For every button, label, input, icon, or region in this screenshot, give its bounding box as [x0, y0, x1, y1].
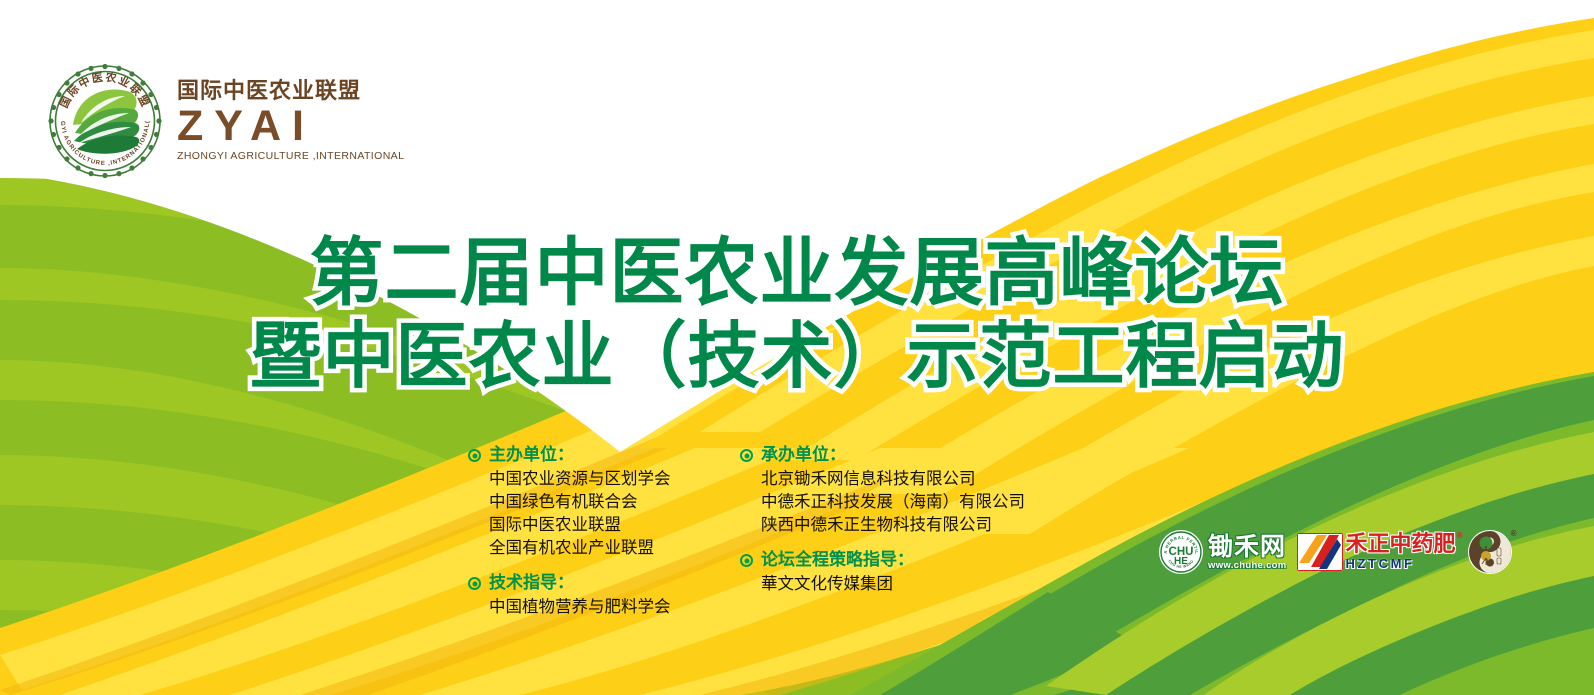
chuhe-name: 锄禾网 — [1208, 534, 1287, 559]
registered-mark-icon: ® — [1511, 529, 1517, 538]
info-group-technical-guidance: 技术指导： 中国植物营养与肥料学会 — [468, 572, 740, 618]
sponsor-chuhe-logo: CHINA HERBAL FERTILIZER CHU HE WANG CHU … — [1158, 529, 1287, 575]
info-group-strategic-guidance: 论坛全程策略指导： 華文文化传媒集团 — [740, 549, 1040, 595]
sponsor-logo-row: CHINA HERBAL FERTILIZER CHU HE WANG CHU … — [1158, 528, 1514, 576]
logo-english-name: ZHONGYI AGRICULTURE ,INTERNATIONAL — [177, 151, 404, 162]
info-group-host: 主办单位： 中国农业资源与区划学会 中国绿色有机联合会 国际中医农业联盟 全国有… — [468, 444, 740, 559]
info-heading-row: 承办单位： — [740, 444, 1040, 467]
bullet-icon — [468, 577, 481, 590]
sponsor-hztcmf-logo: 禾正中药肥 HZTCMF ® — [1297, 533, 1456, 571]
info-heading-label: 主办单位： — [489, 444, 574, 467]
conference-banner: 国际中医农业联盟 ZHONGYI AGRICULTURE ,INTERNATIO… — [0, 0, 1594, 695]
zyai-logo-text: 国际中医农业联盟 ZYAI ZHONGYI AGRICULTURE ,INTER… — [177, 81, 404, 162]
list-item: 北京锄禾网信息科技有限公司 — [761, 467, 1040, 490]
chuhe-seal-svg: CHINA HERBAL FERTILIZER CHU HE WANG CHU … — [1158, 529, 1204, 575]
info-heading-label: 承办单位： — [761, 444, 846, 467]
list-item: 中国农业资源与区划学会 — [489, 467, 740, 490]
hztcmf-mark-svg — [1297, 533, 1343, 571]
hztcmf-mark-icon — [1297, 533, 1343, 571]
hztcmf-name-en: HZTCMF — [1346, 557, 1456, 570]
info-group-co-organizer: 承办单位： 北京锄禾网信息科技有限公司 中德禾正科技发展（海南）有限公司 陕西中… — [740, 444, 1040, 536]
sponsor-tree-emblem-logo: ® — [1466, 528, 1514, 576]
zyai-emblem-icon: 国际中医农业联盟 ZHONGYI AGRICULTURE ,INTERNATIO… — [47, 63, 163, 179]
bullet-icon — [740, 449, 753, 462]
tree-emblem-icon — [1466, 528, 1514, 576]
registered-mark-icon: ® — [1457, 532, 1463, 540]
info-item-list: 華文文化传媒集团 — [761, 572, 1040, 595]
list-item: 陕西中德禾正生物科技有限公司 — [761, 513, 1040, 536]
info-item-list: 中国农业资源与区划学会 中国绿色有机联合会 国际中医农业联盟 全国有机农业产业联… — [489, 467, 740, 559]
info-item-list: 中国植物营养与肥料学会 — [489, 595, 740, 618]
info-heading-row: 技术指导： — [468, 572, 740, 595]
hztcmf-wordmark: 禾正中药肥 HZTCMF ® — [1346, 534, 1456, 570]
list-item: 華文文化传媒集团 — [761, 572, 1040, 595]
info-item-list: 北京锄禾网信息科技有限公司 中德禾正科技发展（海南）有限公司 陕西中德禾正生物科… — [761, 467, 1040, 536]
list-item: 全国有机农业产业联盟 — [489, 536, 740, 559]
info-heading-row: 主办单位： — [468, 444, 740, 467]
info-heading-label: 论坛全程策略指导： — [761, 549, 914, 572]
list-item: 国际中医农业联盟 — [489, 513, 740, 536]
info-heading-label: 技术指导： — [489, 572, 574, 595]
organizer-info: 主办单位： 中国农业资源与区划学会 中国绿色有机联合会 国际中医农业联盟 全国有… — [468, 444, 1040, 631]
svg-text:HE: HE — [1174, 556, 1188, 567]
info-heading-row: 论坛全程策略指导： — [740, 549, 1040, 572]
list-item: 中国绿色有机联合会 — [489, 490, 740, 513]
list-item: 中国植物营养与肥料学会 — [489, 595, 740, 618]
chuhe-url: www.chuhe.com — [1208, 561, 1287, 571]
logo-chinese-name: 国际中医农业联盟 — [177, 81, 404, 103]
logo-acronym: ZYAI — [177, 104, 404, 149]
zyai-logo: 国际中医农业联盟 ZHONGYI AGRICULTURE ,INTERNATIO… — [47, 63, 404, 179]
bullet-icon — [468, 449, 481, 462]
chuhe-wordmark: 锄禾网 www.chuhe.com — [1208, 534, 1287, 571]
organizer-column-left: 主办单位： 中国农业资源与区划学会 中国绿色有机联合会 国际中医农业联盟 全国有… — [468, 444, 740, 631]
bullet-icon — [740, 554, 753, 567]
hztcmf-name-cn: 禾正中药肥 — [1346, 534, 1456, 556]
chuhe-seal-icon: CHINA HERBAL FERTILIZER CHU HE WANG CHU … — [1158, 529, 1204, 575]
zyai-emblem-svg: 国际中医农业联盟 ZHONGYI AGRICULTURE ,INTERNATIO… — [47, 63, 163, 179]
list-item: 中德禾正科技发展（海南）有限公司 — [761, 490, 1040, 513]
organizer-column-right: 承办单位： 北京锄禾网信息科技有限公司 中德禾正科技发展（海南）有限公司 陕西中… — [740, 444, 1040, 631]
